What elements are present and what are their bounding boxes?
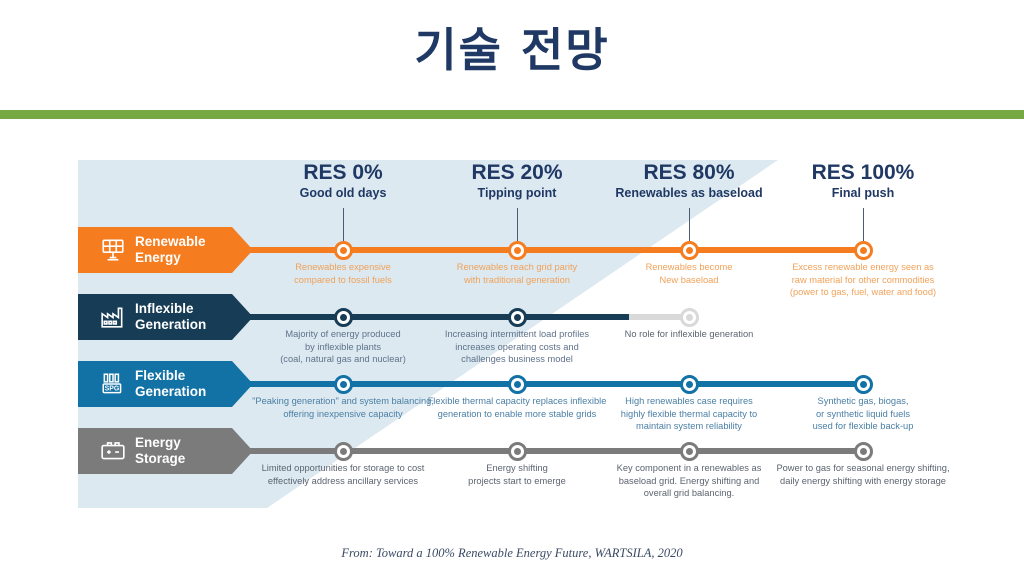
timeline-node-r0-c2[interactable] xyxy=(680,241,699,260)
column-tick-4 xyxy=(863,208,864,241)
spg-plant-icon: SPG xyxy=(100,371,126,397)
source-citation: From: Toward a 100% Renewable Energy Fut… xyxy=(0,546,1024,561)
timeline-node-r2-c2[interactable] xyxy=(680,375,699,394)
column-percent: RES 100% xyxy=(753,162,973,184)
node-dot xyxy=(514,314,521,321)
timeline-node-r3-c0[interactable] xyxy=(334,442,353,461)
category-3[interactable]: Energy Storage xyxy=(78,428,253,474)
cell-r2-c0: "Peaking generation" and system balancin… xyxy=(243,395,443,420)
column-header-4: RES 100%Final push xyxy=(753,162,973,201)
timeline-node-r2-c1[interactable] xyxy=(508,375,527,394)
slide: 기술 전망 RES 0%Good old daysRES 20%Tipping … xyxy=(0,0,1024,576)
cell-r0-c3: Excess renewable energy seen as raw mate… xyxy=(763,261,963,299)
node-dot xyxy=(686,381,693,388)
accent-divider xyxy=(0,110,1024,119)
cell-r3-c3: Power to gas for seasonal energy shiftin… xyxy=(763,462,963,487)
column-tick-1 xyxy=(343,208,344,241)
node-dot xyxy=(514,448,521,455)
category-1[interactable]: Inflexible Generation xyxy=(78,294,253,340)
timeline-node-r1-c1[interactable] xyxy=(508,308,527,327)
battery-icon xyxy=(100,438,126,464)
timeline-track-0 xyxy=(237,247,863,253)
timeline-node-r0-c0[interactable] xyxy=(334,241,353,260)
timeline-node-r3-c2[interactable] xyxy=(680,442,699,461)
cell-r0-c2: Renewables become New baseload xyxy=(589,261,789,286)
category-2[interactable]: SPGFlexible Generation xyxy=(78,361,253,407)
solar-panel-icon xyxy=(100,237,126,263)
node-dot xyxy=(860,381,867,388)
node-dot xyxy=(340,247,347,254)
cell-r2-c1: Flexible thermal capacity replaces infle… xyxy=(417,395,617,420)
timeline-track-2 xyxy=(237,381,863,387)
cell-r3-c0: Limited opportunities for storage to cos… xyxy=(243,462,443,487)
cell-r1-c1: Increasing intermittent load profiles in… xyxy=(417,328,617,366)
timeline-node-r2-c3[interactable] xyxy=(854,375,873,394)
timeline-track-1 xyxy=(237,314,689,320)
cell-r2-c2: High renewables case requires highly fle… xyxy=(589,395,789,433)
timeline-node-r2-c0[interactable] xyxy=(334,375,353,394)
timeline-node-r0-c1[interactable] xyxy=(508,241,527,260)
timeline-node-r3-c3[interactable] xyxy=(854,442,873,461)
timeline-node-r1-c0[interactable] xyxy=(334,308,353,327)
category-0[interactable]: Renewable Energy xyxy=(78,227,253,273)
category-label: Flexible Generation xyxy=(135,368,206,399)
node-dot xyxy=(514,247,521,254)
cell-r3-c2: Key component in a renewables as baseloa… xyxy=(589,462,789,500)
factory-icon xyxy=(100,304,126,330)
cell-r1-c2: No role for inflexible generation xyxy=(589,328,789,341)
node-dot xyxy=(340,448,347,455)
timeline-node-r3-c1[interactable] xyxy=(508,442,527,461)
node-dot xyxy=(860,448,867,455)
category-label: Inflexible Generation xyxy=(135,301,206,332)
column-tick-2 xyxy=(517,208,518,241)
category-label: Energy Storage xyxy=(135,435,185,466)
node-dot xyxy=(686,247,693,254)
node-dot xyxy=(686,448,693,455)
node-dot xyxy=(340,314,347,321)
node-dot xyxy=(860,247,867,254)
node-dot xyxy=(686,314,693,321)
node-dot xyxy=(514,381,521,388)
cell-r0-c0: Renewables expensive compared to fossil … xyxy=(243,261,443,286)
column-tick-3 xyxy=(689,208,690,241)
column-subtitle: Final push xyxy=(753,185,973,201)
svg-text:SPG: SPG xyxy=(105,386,120,393)
timeline-node-r1-c2[interactable] xyxy=(680,308,699,327)
node-dot xyxy=(340,381,347,388)
timeline-track-3 xyxy=(237,448,863,454)
timeline-node-r0-c3[interactable] xyxy=(854,241,873,260)
cell-r0-c1: Renewables reach grid parity with tradit… xyxy=(417,261,617,286)
category-label: Renewable Energy xyxy=(135,234,206,265)
timeline-chart: RES 0%Good old daysRES 20%Tipping pointR… xyxy=(0,150,1024,525)
cell-r3-c1: Energy shifting projects start to emerge xyxy=(417,462,617,487)
page-title: 기술 전망 xyxy=(0,14,1024,80)
cell-r1-c0: Majority of energy produced by inflexibl… xyxy=(243,328,443,366)
cell-r2-c3: Synthetic gas, biogas, or synthetic liqu… xyxy=(763,395,963,433)
